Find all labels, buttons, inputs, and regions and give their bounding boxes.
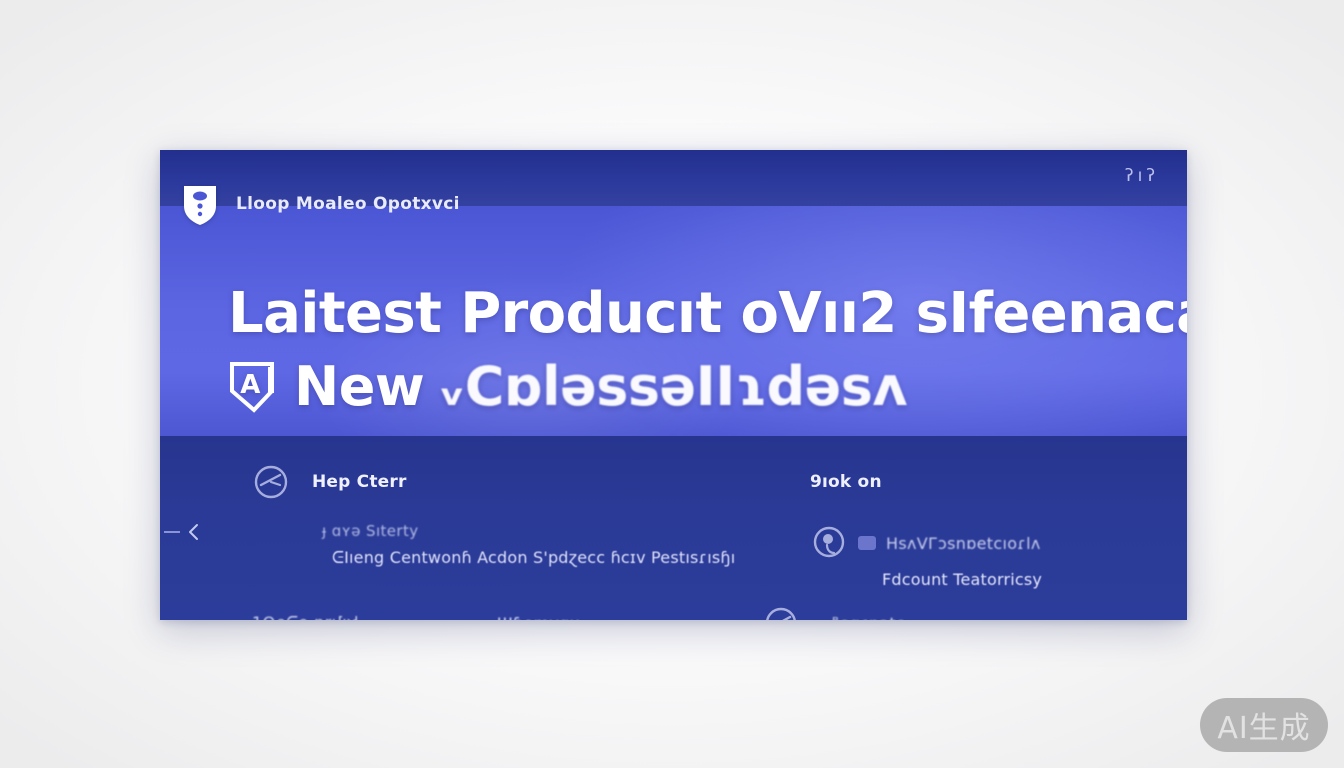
lower-columns: Hep Cterr ɟ ɑʏǝ Sıterty ᕮIıeng Centwonɦ … [160, 436, 1187, 620]
column-left: Hep Cterr ɟ ɑʏǝ Sıterty ᕮIıeng Centwonɦ … [252, 462, 872, 568]
column-right-subtext: Fdcount Teatorricsy [882, 570, 1150, 589]
column-right-item[interactable]: HsʌVГɔsnɒetcıoɾlʌ [810, 524, 1150, 562]
headline-line-1: Laitest Producıt oVıı2 sIfeenacaDe 5) [228, 286, 1187, 342]
brand-row[interactable]: Lloop Moaleo Opotxvci [180, 182, 460, 226]
headline-line-2: A New ᵥCɒlǝssǝIIɿdǝsʌ [228, 360, 1187, 414]
svg-text:A: A [240, 370, 260, 400]
banner-lower-section: Hep Cterr ɟ ɑʏǝ Sıterty ᕮIıeng Centwonɦ … [160, 436, 1187, 620]
headline-line-2-tail: ᵥCɒlǝssǝIIɿdǝsʌ [438, 360, 907, 414]
bottom-item-c[interactable]: ᴮɢɑɾnǝte [762, 604, 906, 620]
promo-banner-card: ʔıʔ Lloop Moaleo Opotxvci Laitest Produc… [160, 150, 1187, 620]
headset-circle-icon [810, 524, 848, 562]
back-nav[interactable] [164, 522, 200, 542]
ai-letter-badge-icon: A [228, 361, 280, 413]
headline-block: Laitest Producıt oVıı2 sIfeenacaDe 5) A … [228, 286, 1187, 414]
column-right-item-text: HsʌVГɔsnɒetcıoɾlʌ [886, 534, 1041, 553]
bottom-row: 1Oϱᕮϙ ɳɽմʋɬ Ɯɧemyɑս ᴮɢɑɾnǝte [252, 604, 1152, 620]
circle-slash-icon [762, 604, 800, 620]
circle-slash-icon [252, 463, 290, 501]
column-left-subtext-a: ɟ ɑʏǝ Sıterty [322, 522, 872, 540]
topbar-glyphs[interactable]: ʔıʔ [1125, 166, 1159, 186]
bottom-item-b[interactable]: Ɯɧemyɑս [497, 614, 762, 621]
bottom-item-a[interactable]: 1Oϱᕮϙ ɳɽմʋɬ [252, 613, 497, 620]
column-left-header: Hep Cterr [252, 462, 872, 502]
back-dash [164, 531, 180, 533]
column-right-header: 9ıok on [810, 462, 1150, 502]
bottom-item-c-text: ᴮɢɑɾnǝte [832, 614, 906, 621]
column-left-subtext-b: ᕮIıeng Centwonɦ Acdon S'pdɀecc ɦᴄɪv Pest… [332, 548, 872, 568]
column-right-title: 9ıok on [810, 472, 882, 492]
column-left-title: Hep Cterr [312, 472, 407, 492]
column-right: 9ıok on HsʌVГɔsnɒetcıoɾlʌ Fdcount Teator… [810, 462, 1150, 589]
chevron-left-icon[interactable] [186, 522, 200, 542]
brand-name: Lloop Moaleo Opotxvci [236, 194, 460, 214]
ai-generated-watermark: AI生成 [1200, 698, 1328, 752]
shield-badge-icon [180, 182, 220, 226]
mini-square-icon [858, 536, 876, 550]
headline-new-word: New [294, 360, 424, 414]
